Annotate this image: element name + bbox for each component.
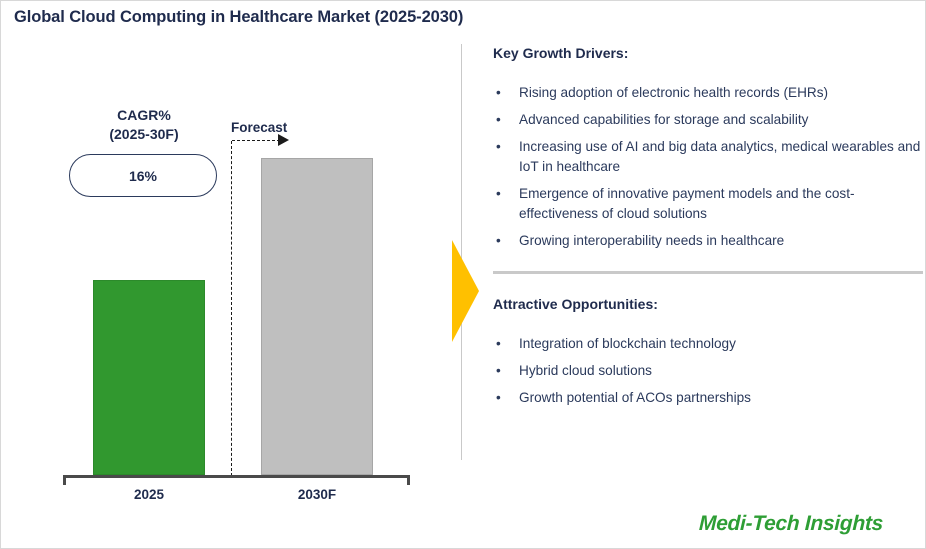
list-item: • Integration of blockchain technology	[493, 334, 925, 354]
opportunities-section: Attractive Opportunities: • Integration …	[493, 296, 925, 408]
info-panel: Key Growth Drivers: • Rising adoption of…	[493, 45, 925, 415]
forecast-divider-line	[231, 141, 232, 476]
x-axis-line	[63, 475, 410, 478]
bullet-icon: •	[496, 334, 501, 354]
list-item: • Increasing use of AI and big data anal…	[493, 137, 925, 177]
bullet-icon: •	[496, 184, 501, 204]
cagr-label-line2: (2025-30F)	[69, 125, 219, 144]
list-item-text: Integration of blockchain technology	[519, 336, 736, 351]
forecast-arrow-line	[232, 140, 280, 141]
x-axis-tick-right	[407, 475, 410, 485]
opportunities-list: • Integration of blockchain technology •…	[493, 334, 925, 408]
bullet-icon: •	[496, 83, 501, 103]
cagr-label-line1: CAGR%	[69, 106, 219, 125]
bullet-icon: •	[496, 231, 501, 251]
slide-root: Global Cloud Computing in Healthcare Mar…	[0, 0, 926, 549]
list-item: • Hybrid cloud solutions	[493, 361, 925, 381]
bar-2030f	[261, 158, 373, 475]
right-arrow-icon	[452, 240, 479, 342]
x-axis-label-2025: 2025	[79, 487, 219, 502]
drivers-heading: Key Growth Drivers:	[493, 45, 925, 61]
page-title: Global Cloud Computing in Healthcare Mar…	[14, 8, 463, 27]
bullet-icon: •	[496, 110, 501, 130]
drivers-list: • Rising adoption of electronic health r…	[493, 83, 925, 251]
bullet-icon: •	[496, 388, 501, 408]
list-item: • Growing interoperability needs in heal…	[493, 231, 925, 251]
forecast-arrow-head-icon	[278, 134, 289, 146]
list-item: • Growth potential of ACOs partnerships	[493, 388, 925, 408]
bullet-icon: •	[496, 137, 501, 157]
x-axis-tick-left	[63, 475, 66, 485]
cagr-value-pill: 16%	[69, 154, 217, 197]
bar-chart: CAGR% (2025-30F) 16% Forecast 2025 2030F	[1, 41, 461, 511]
list-item-text: Increasing use of AI and big data analyt…	[519, 139, 920, 174]
list-item: • Advanced capabilities for storage and …	[493, 110, 925, 130]
list-item-text: Advanced capabilities for storage and sc…	[519, 112, 808, 127]
list-item-text: Emergence of innovative payment models a…	[519, 186, 855, 221]
list-item-text: Growing interoperability needs in health…	[519, 233, 784, 248]
cagr-value: 16%	[129, 168, 157, 184]
cagr-label: CAGR% (2025-30F)	[69, 106, 219, 144]
bar-2025	[93, 280, 205, 475]
opportunities-heading: Attractive Opportunities:	[493, 296, 925, 312]
list-item: • Emergence of innovative payment models…	[493, 184, 925, 224]
forecast-label: Forecast	[231, 120, 287, 135]
bullet-icon: •	[496, 361, 501, 381]
list-item: • Rising adoption of electronic health r…	[493, 83, 925, 103]
section-separator	[493, 271, 923, 274]
list-item-text: Growth potential of ACOs partnerships	[519, 390, 751, 405]
brand-logo: Medi-Tech Insights	[699, 512, 884, 536]
list-item-text: Rising adoption of electronic health rec…	[519, 85, 828, 100]
x-axis-label-2030f: 2030F	[247, 487, 387, 502]
list-item-text: Hybrid cloud solutions	[519, 363, 652, 378]
